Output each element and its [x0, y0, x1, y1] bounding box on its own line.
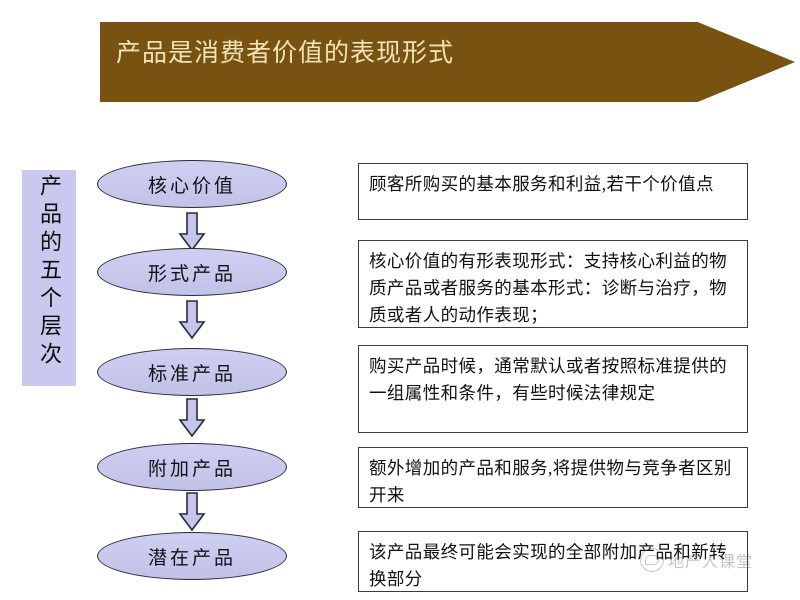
description-box-standard-product: 购买产品时候，通常默认或者按照标准提供的一组属性和条件，有些时候法律规定	[358, 345, 748, 433]
flow-node-augmented-product[interactable]: 附加产品	[97, 443, 287, 491]
description-text: 额外增加的产品和服务,将提供物与竞争者区别开来	[369, 455, 737, 509]
description-box-augmented-product: 额外增加的产品和服务,将提供物与竞争者区别开来	[358, 447, 748, 508]
description-text: 核心价值的有形表现形式：支持核心利益的物质产品或者服务的基本形式：诊断与治疗，物…	[369, 248, 737, 329]
flow-node-label: 标准产品	[148, 359, 236, 386]
flow-node-label: 附加产品	[148, 454, 236, 481]
description-box-core-value: 顾客所购买的基本服务和利益,若干个价值点	[358, 163, 748, 220]
vertical-section-label: 产品的五个层次	[22, 170, 76, 386]
title-banner: 产品是消费者价值的表现形式	[100, 22, 795, 102]
flow-node-potential-product[interactable]: 潜在产品	[97, 532, 287, 580]
description-box-potential-product: 该产品最终可能会实现的全部附加产品和新转换部分	[358, 531, 748, 592]
flow-node-form-product[interactable]: 形式产品	[97, 248, 287, 296]
description-box-form-product: 核心价值的有形表现形式：支持核心利益的物质产品或者服务的基本形式：诊断与治疗，物…	[358, 240, 748, 328]
flow-node-label: 形式产品	[148, 259, 236, 286]
page-title: 产品是消费者价值的表现形式	[116, 38, 454, 70]
description-text: 顾客所购买的基本服务和利益,若干个价值点	[369, 171, 737, 198]
vertical-section-label-text: 产品的五个层次	[34, 174, 64, 370]
arrow-down-icon-3	[178, 398, 206, 438]
description-text: 该产品最终可能会实现的全部附加产品和新转换部分	[369, 539, 737, 593]
description-text: 购买产品时候，通常默认或者按照标准提供的一组属性和条件，有些时候法律规定	[369, 353, 737, 407]
flow-node-label: 核心价值	[148, 171, 236, 198]
flow-node-standard-product[interactable]: 标准产品	[97, 348, 287, 396]
arrow-down-icon-4	[178, 492, 206, 532]
flow-node-label: 潜在产品	[148, 543, 236, 570]
arrow-down-icon-1	[178, 212, 206, 252]
flow-node-core-value[interactable]: 核心价值	[97, 160, 287, 208]
arrow-down-icon-2	[178, 300, 206, 340]
